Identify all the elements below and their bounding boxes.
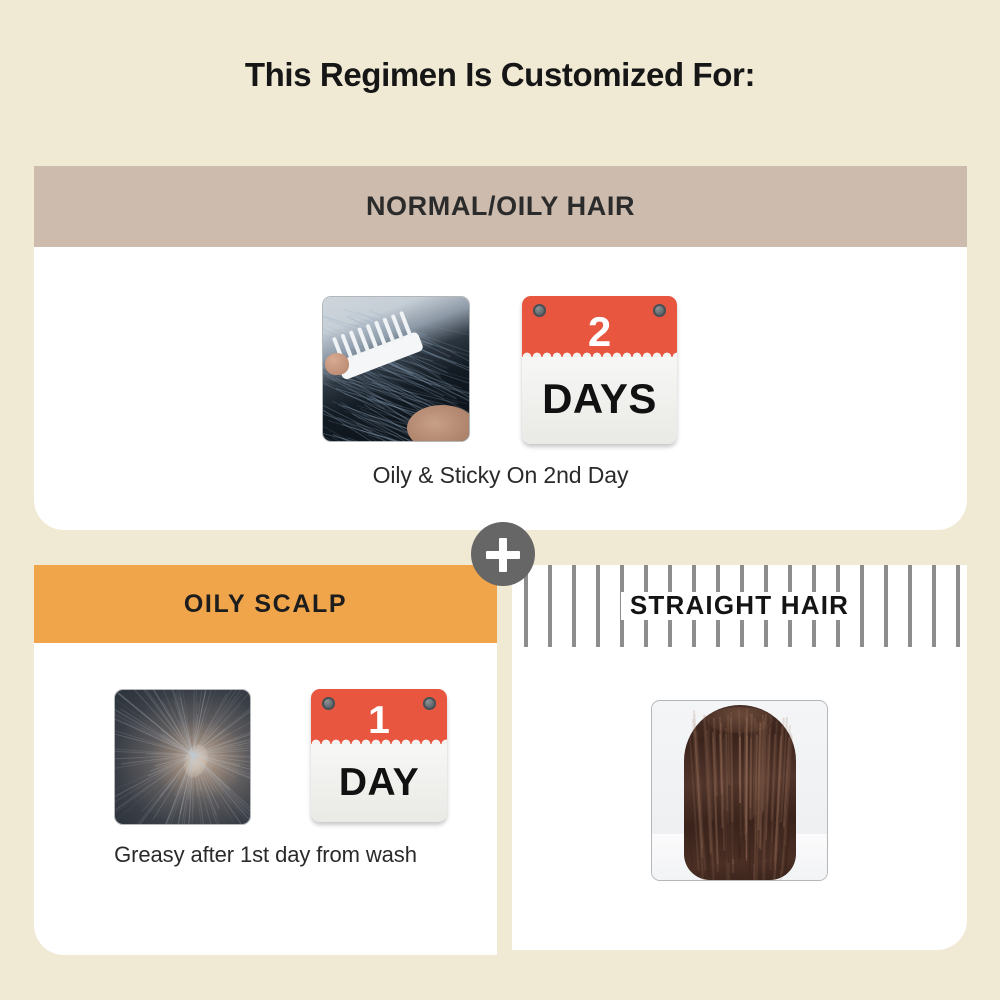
card-oily-scalp-caption: Greasy after 1st day from wash (34, 842, 497, 868)
card-straight-hair: STRAIGHT HAIR (512, 565, 967, 950)
calendar-bottom-white: DAYS (522, 357, 677, 444)
card-normal-oily-hair-caption: Oily & Sticky On 2nd Day (34, 462, 967, 489)
calendar-unit-label: DAYS (522, 378, 677, 420)
regimen-infographic: This Regimen Is Customized For: NORMAL/O… (0, 0, 1000, 1000)
card-straight-hair-header-text: STRAIGHT HAIR (621, 592, 858, 619)
oily-scalp-photo (114, 689, 251, 825)
card-oily-scalp-header-label: OILY SCALP (34, 565, 497, 643)
straight-hair-photo (651, 700, 828, 881)
card-straight-hair-header-label: STRAIGHT HAIR (512, 565, 967, 647)
calendar-perforation (311, 737, 447, 744)
card-normal-oily-hair: NORMAL/OILY HAIR (34, 166, 967, 530)
calendar-perforation (522, 350, 677, 357)
card-normal-oily-hair-body: 2 DAYS Oily & Sticky On 2nd Day (34, 247, 967, 530)
calendar-top-red: 2 (522, 296, 677, 357)
card-oily-scalp: OILY SCALP 1 DAY Greasy after 1st day fr… (34, 565, 497, 955)
oily-hair-illustration (323, 297, 469, 441)
card-oily-scalp-header: OILY SCALP (34, 565, 497, 643)
card-normal-oily-hair-header: NORMAL/OILY HAIR (34, 166, 967, 247)
thumb (325, 353, 349, 375)
card-normal-oily-hair-header-label: NORMAL/OILY HAIR (34, 166, 967, 247)
page-title: This Regimen Is Customized For: (0, 56, 1000, 94)
calendar-unit-label: DAY (311, 763, 447, 802)
calendar-1-day-icon: 1 DAY (311, 689, 447, 822)
straight-hair-illustration (652, 701, 827, 880)
calendar-number: 2 (522, 311, 677, 353)
oily-scalp-illustration (115, 690, 250, 824)
calendar-number: 1 (311, 701, 447, 740)
calendar-2-days-icon: 2 DAYS (522, 296, 677, 444)
oily-hair-photo (322, 296, 470, 442)
calendar-bottom-white: DAY (311, 744, 447, 822)
calendar-top-red: 1 (311, 689, 447, 744)
plus-connector-icon (471, 522, 535, 586)
